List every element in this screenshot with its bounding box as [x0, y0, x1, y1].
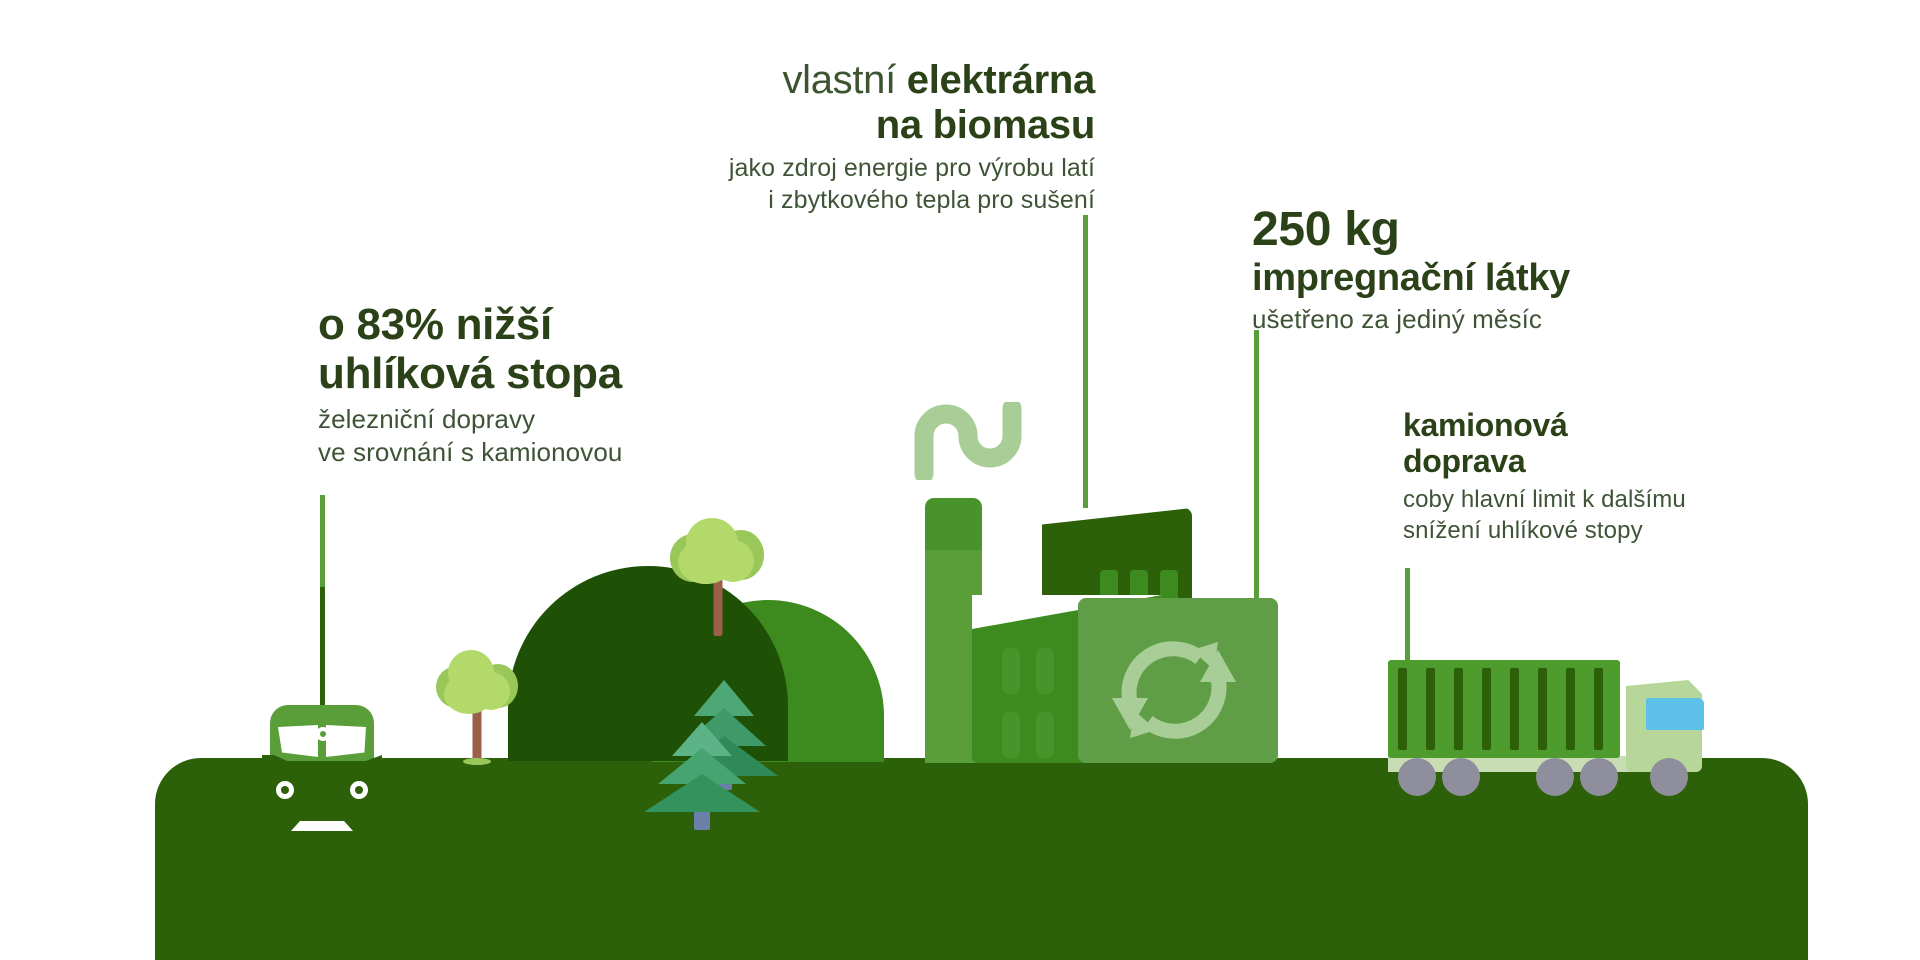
pine-tree-front: [640, 722, 764, 830]
truck-trailer: [1388, 660, 1620, 758]
truck-cab-window: [1646, 698, 1704, 730]
truck-trailer-slat: [1426, 668, 1435, 750]
truck-wheel: [1580, 758, 1618, 796]
truck-trailer-slat: [1482, 668, 1491, 750]
callout-trucking-headline-1: kamionová: [1403, 408, 1823, 444]
pine-trunk: [694, 810, 710, 830]
connector-line-biomass: [1083, 215, 1088, 545]
callout-impregnation-sub-1: ušetřeno za jediný měsíc: [1252, 303, 1692, 337]
factory-window: [1036, 712, 1054, 758]
pine-tier: [644, 774, 760, 812]
smoke-wave-icon: [912, 402, 1042, 480]
truck-trailer-slat: [1510, 668, 1519, 750]
callout-impregnation-headline-2: impregnační látky: [1252, 257, 1692, 300]
callout-trucking-headline-2: doprava: [1403, 444, 1823, 480]
callout-rail: o 83% nižší uhlíková stopa železniční do…: [318, 300, 738, 470]
callout-trucking-sub-1: coby hlavní limit k dalšímu: [1403, 484, 1823, 515]
deciduous-tree-small: [434, 648, 520, 762]
truck-wheel: [1442, 758, 1480, 796]
tree-canopy-blob: [712, 540, 754, 582]
train-window-left: [278, 725, 318, 757]
truck-icon: [1388, 660, 1718, 790]
tree-canopy-blob: [472, 672, 510, 710]
callout-rail-headline-2: uhlíková stopa: [318, 349, 738, 398]
deciduous-tree-large: [670, 518, 766, 636]
truck-wheel: [1398, 758, 1436, 796]
callout-biomass-headline-strong-2: na biomasu: [520, 103, 1095, 148]
truck-trailer-slat: [1454, 668, 1463, 750]
callout-trucking-sub-2: snížení uhlíkové stopy: [1403, 515, 1823, 546]
train-headlight-left: [276, 781, 294, 799]
callout-biomass-headline-strong-1: elektrárna: [907, 58, 1095, 102]
recycling-arrows-icon: [1104, 628, 1244, 752]
callout-impregnation-headline-1: 250 kg: [1252, 203, 1692, 257]
tree-base: [463, 758, 491, 765]
train-icon: [258, 705, 386, 837]
tree-trunk: [714, 578, 723, 636]
callout-rail-sub-1: železniční dopravy: [318, 403, 738, 437]
train-pantograph: [320, 587, 325, 709]
factory-window: [1002, 648, 1020, 694]
callout-biomass-sub-1: jako zdroj energie pro výrobu latí: [520, 152, 1095, 185]
callout-rail-headline-1: o 83% nižší: [318, 300, 738, 349]
callout-biomass-sub-2: i zbytkového tepla pro sušení: [520, 184, 1095, 217]
callout-impregnation: 250 kg impregnační látky ušetřeno za jed…: [1252, 203, 1692, 337]
train-skirt-inner: [291, 821, 353, 831]
truck-wheel: [1536, 758, 1574, 796]
train-roof-light: [316, 727, 330, 741]
infographic-canvas: o 83% nižší uhlíková stopa železniční do…: [0, 0, 1920, 960]
truck-trailer-slat: [1594, 668, 1603, 750]
factory-window: [1002, 712, 1020, 758]
callout-trucking: kamionová doprava coby hlavní limit k da…: [1403, 408, 1823, 546]
truck-trailer-slat: [1566, 668, 1575, 750]
callout-rail-sub-2: ve srovnání s kamionovou: [318, 436, 738, 470]
tree-trunk: [473, 706, 482, 762]
train-window-right: [326, 725, 366, 757]
factory-window: [1036, 648, 1054, 694]
factory-smokestack-cap: [925, 498, 982, 550]
truck-wheel: [1650, 758, 1688, 796]
callout-biomass: vlastní elektrárna na biomasu jako zdroj…: [520, 58, 1095, 217]
callout-biomass-headline-lead: vlastní: [782, 58, 906, 102]
train-headlight-right: [350, 781, 368, 799]
truck-trailer-slat: [1538, 668, 1547, 750]
truck-trailer-slat: [1398, 668, 1407, 750]
